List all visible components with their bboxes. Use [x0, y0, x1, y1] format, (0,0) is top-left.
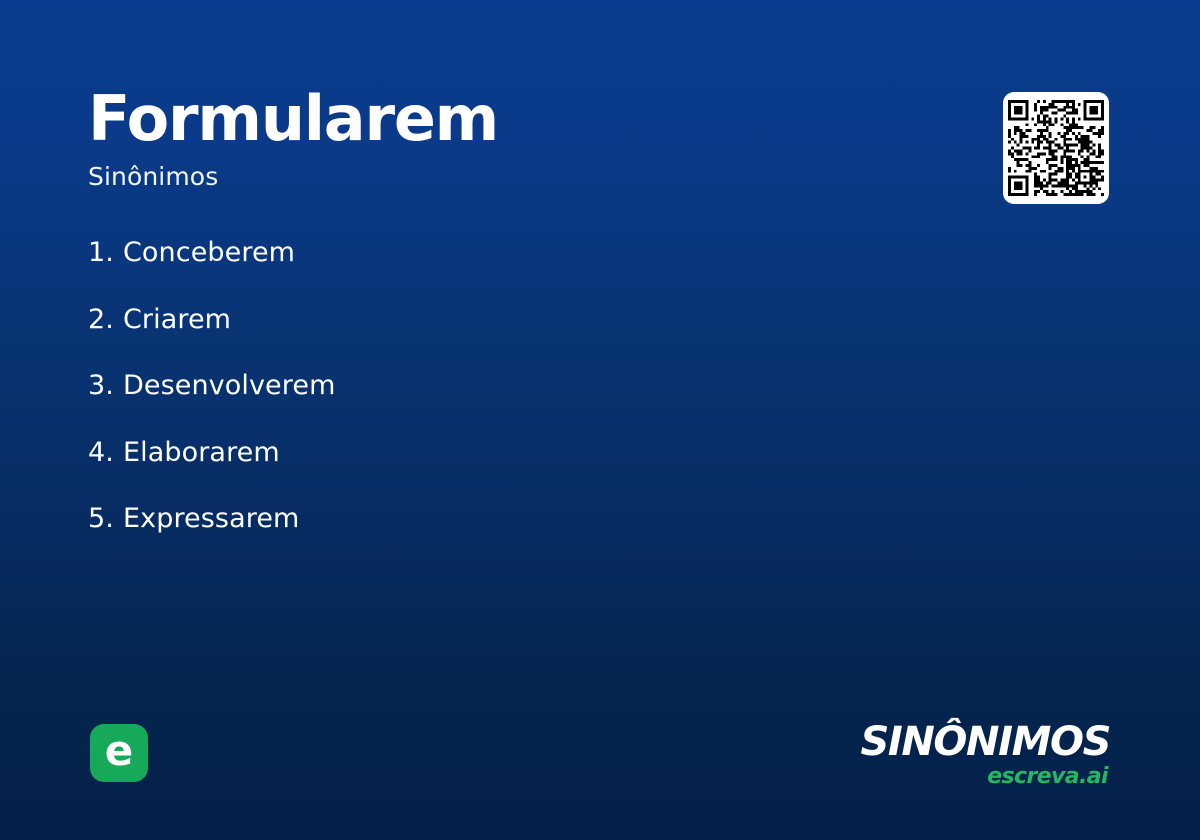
synonym-index: 2.	[88, 304, 114, 335]
qr-code-icon	[1008, 100, 1104, 196]
list-item: 1.Conceberem	[88, 237, 848, 304]
synonyms-list: 1.Conceberem2.Criarem3.Desenvolverem4.El…	[88, 237, 848, 570]
qr-code-card[interactable]	[1003, 92, 1109, 204]
brand-badge-letter: e	[105, 730, 134, 772]
synonym-word: Desenvolverem	[123, 370, 336, 401]
title-block: Formularem Sinônimos	[88, 88, 908, 189]
list-item: 3.Desenvolverem	[88, 370, 848, 437]
page-title: Formularem	[88, 88, 908, 150]
footer-logo-sub: escreva.ai	[860, 766, 1108, 788]
footer-logo-main: SINÔNIMOS	[860, 722, 1110, 762]
synonym-index: 4.	[88, 437, 114, 468]
synonym-word: Criarem	[123, 304, 231, 335]
footer-logo[interactable]: SINÔNIMOS escreva.ai	[860, 722, 1110, 788]
list-item: 4.Elaborarem	[88, 437, 848, 504]
page-subtitle: Sinônimos	[88, 164, 908, 189]
synonym-word: Elaborarem	[123, 437, 280, 468]
synonym-index: 5.	[88, 503, 114, 534]
synonym-word: Conceberem	[123, 237, 295, 268]
brand-badge[interactable]: e	[90, 724, 148, 782]
list-item: 5.Expressarem	[88, 503, 848, 570]
synonym-index: 1.	[88, 237, 114, 268]
synonyms-card: Formularem Sinônimos 1.Conceberem2.Criar…	[0, 0, 1200, 840]
synonym-word: Expressarem	[123, 503, 300, 534]
list-item: 2.Criarem	[88, 304, 848, 371]
synonym-index: 3.	[88, 370, 114, 401]
